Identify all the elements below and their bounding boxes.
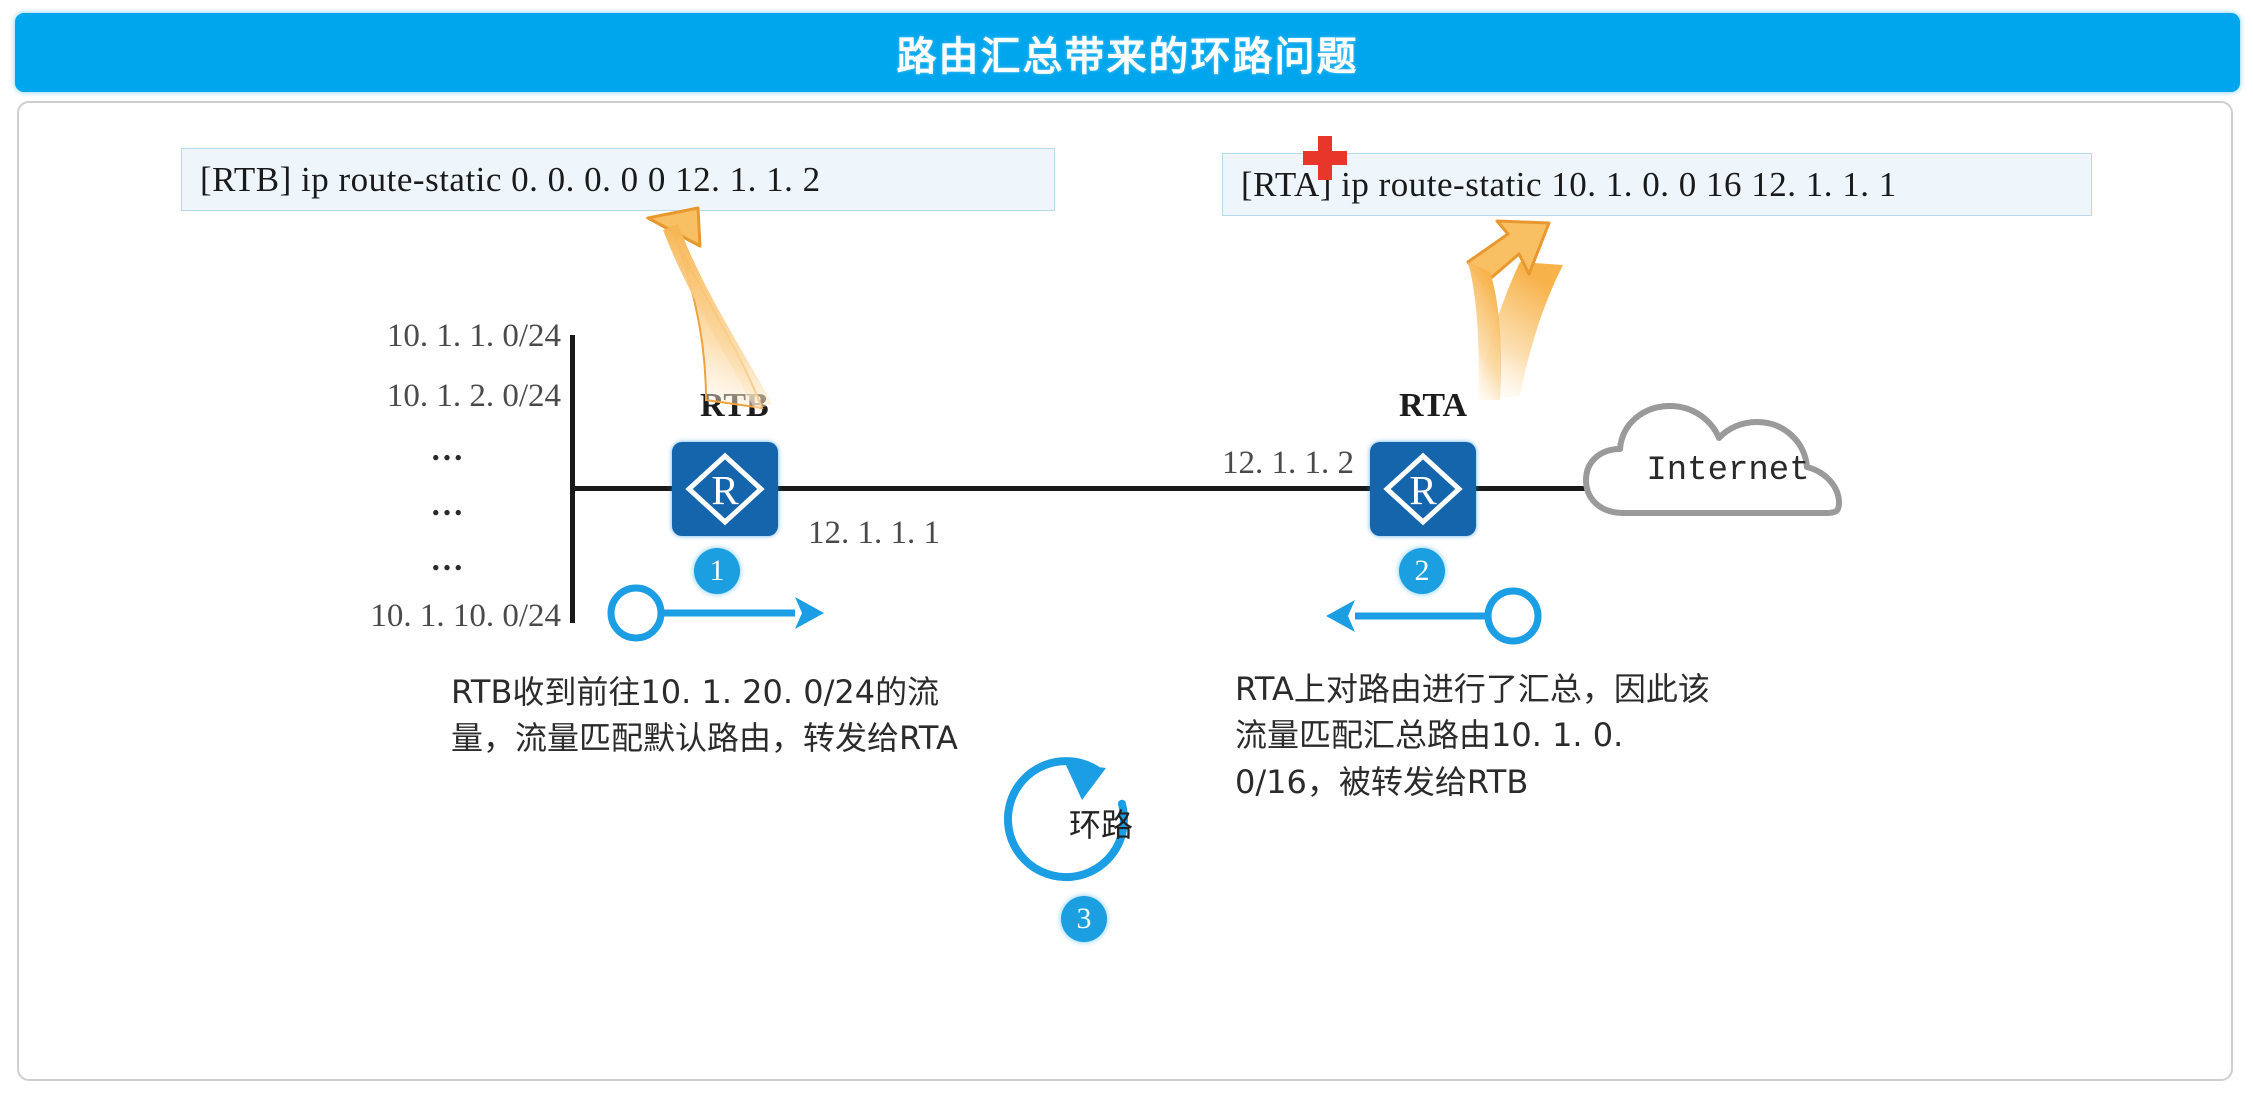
link-rta-to-internet (1468, 486, 1588, 491)
router-icon-rta[interactable]: R (1370, 442, 1476, 536)
cloud-label: Internet (1638, 452, 1818, 490)
subnet-label-1: 10. 1. 1. 0/24 (336, 318, 561, 355)
loop-label: 环路 (1046, 800, 1156, 846)
caption-left: RTB收到前往10. 1. 20. 0/24的流量，流量匹配默认路由，转发给RT… (451, 669, 991, 762)
subnet-label-3: 10. 1. 10. 0/24 (320, 598, 561, 635)
link-bus-to-rtb (570, 486, 680, 491)
lan-bus-line (570, 335, 575, 623)
device-label-rta: RTA (1399, 387, 1467, 425)
page-title: 路由汇总带来的环路问题 (897, 24, 1359, 82)
router-icon: R (672, 442, 778, 536)
subnet-ellipsis-3: ... (336, 542, 561, 579)
subnet-ellipsis-2: ... (336, 487, 561, 524)
interface-label-rtb-right: 12. 1. 1. 1 (808, 515, 940, 552)
red-cross-icon (1301, 134, 1349, 182)
device-label-rtb: RTB (700, 387, 769, 425)
step-badge-1: 1 (694, 548, 740, 594)
caption-right: RTA上对路由进行了汇总，因此该流量匹配汇总路由10. 1. 0. 0/16，被… (1235, 666, 1735, 805)
diagram-canvas: 路由汇总带来的环路问题 [RTB] ip route-static 0. 0. … (0, 0, 2253, 1097)
content-panel (17, 101, 2233, 1081)
router-icon: R (1370, 442, 1476, 536)
interface-label-rta-left: 12. 1. 1. 2 (1222, 445, 1354, 482)
subnet-ellipsis-1: ... (336, 432, 561, 469)
command-text-rtb: [RTB] ip route-static 0. 0. 0. 0 0 12. 1… (200, 160, 821, 200)
step-badge-3: 3 (1061, 896, 1107, 942)
router-icon-rtb[interactable]: R (672, 442, 778, 536)
command-box-rtb: [RTB] ip route-static 0. 0. 0. 0 0 12. 1… (181, 148, 1055, 211)
command-box-rta: [RTA] ip route-static 10. 1. 0. 0 16 12.… (1222, 153, 2092, 216)
subnet-label-2: 10. 1. 2. 0/24 (336, 378, 561, 415)
svg-text:R: R (1409, 467, 1437, 513)
step-badge-2: 2 (1399, 548, 1445, 594)
title-bar: 路由汇总带来的环路问题 (15, 13, 2240, 92)
link-rtb-to-rta (770, 486, 1378, 491)
svg-text:R: R (711, 467, 739, 513)
